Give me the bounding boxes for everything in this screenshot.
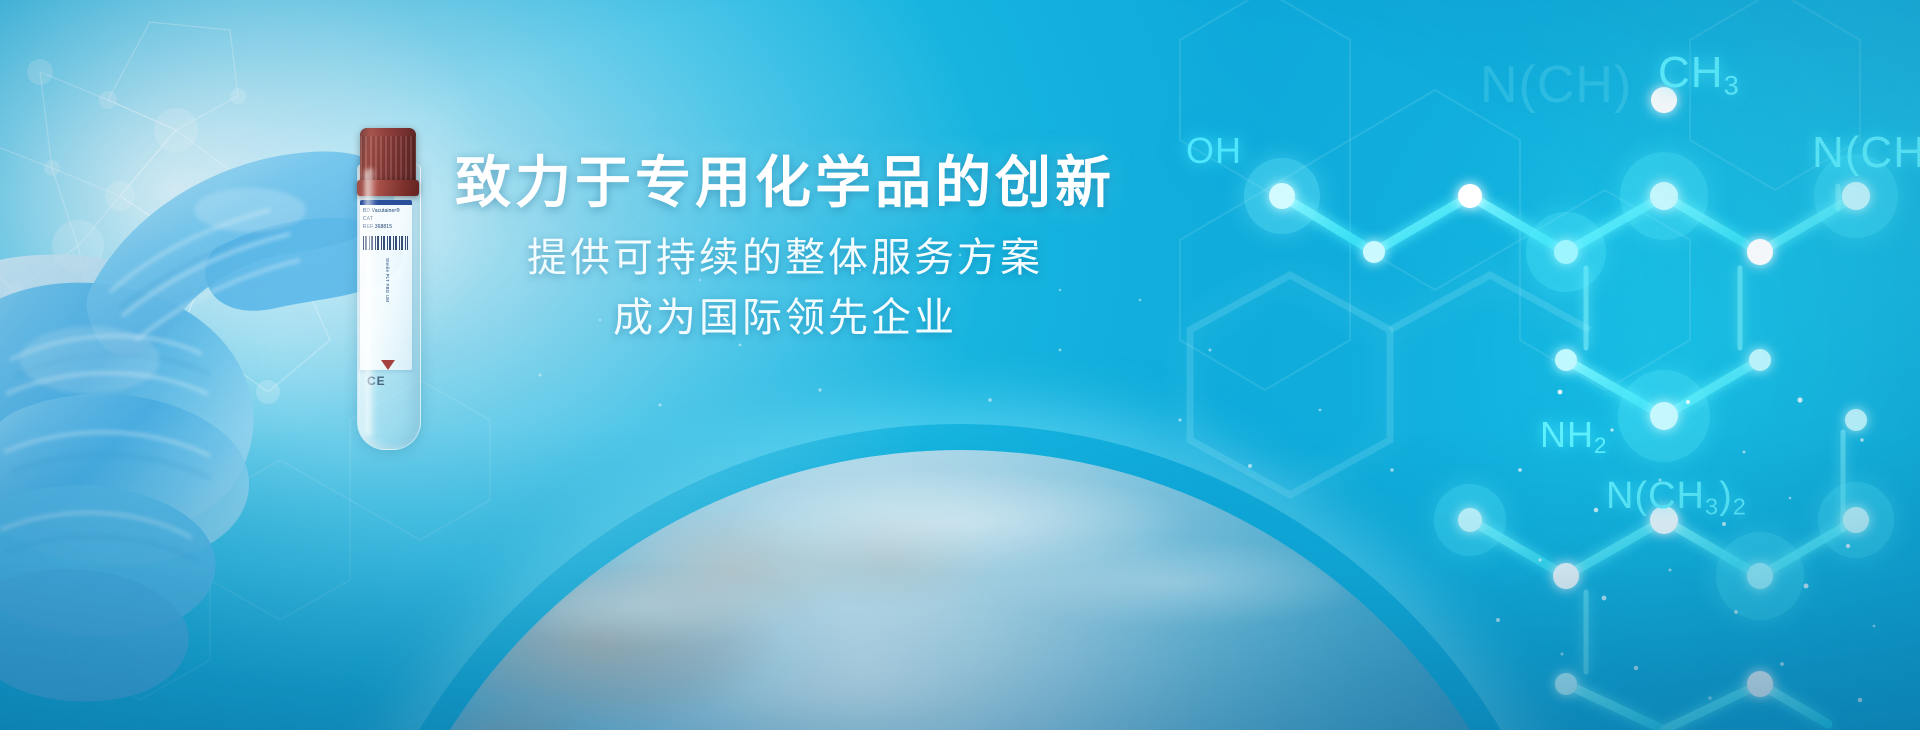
hero-banner: N(CH) CH3 OH N(CH NH2 N(CH3)2: [0, 0, 1920, 730]
background-vignette: [0, 0, 1920, 730]
